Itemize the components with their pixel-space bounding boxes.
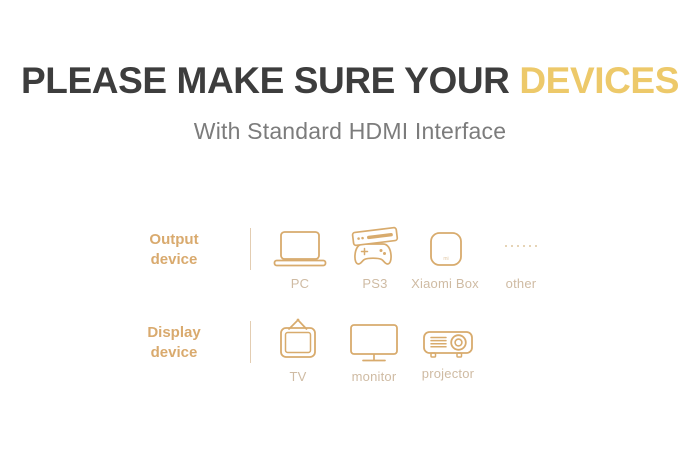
page-subtitle: With Standard HDMI Interface <box>0 118 700 146</box>
game-console-icon <box>339 220 411 272</box>
device-caption-pc: PC <box>264 276 336 291</box>
display-device-label-line2: device <box>120 343 228 363</box>
device-caption-tv: TV <box>264 369 332 384</box>
device-item-monitor[interactable]: monitor <box>334 313 414 384</box>
device-item-other[interactable]: other <box>488 220 554 291</box>
output-row-divider <box>250 228 251 270</box>
device-item-projector[interactable]: projector <box>408 313 488 381</box>
display-device-row: Display device TV <box>0 313 700 408</box>
device-caption-projector: projector <box>408 366 488 381</box>
monitor-icon <box>334 313 414 365</box>
device-caption-xiaomi-box: Xiaomi Box <box>406 276 484 291</box>
page-title-accent: DEVICES <box>519 60 679 101</box>
page-title: PLEASE MAKE SURE YOUR DEVICES <box>0 62 700 99</box>
ellipsis-dots-icon <box>488 220 554 272</box>
device-caption-other: other <box>488 276 554 291</box>
projector-icon <box>408 313 488 365</box>
page-title-main: PLEASE MAKE SURE YOUR <box>21 60 519 101</box>
display-device-label: Display device <box>120 323 228 364</box>
output-device-row: Output device PC <box>0 220 700 315</box>
display-device-label-line1: Display <box>147 324 200 341</box>
device-item-ps3[interactable]: PS3 <box>339 220 411 291</box>
set-top-box-icon: mi <box>406 220 484 272</box>
device-item-xiaomi-box[interactable]: mi Xiaomi Box <box>406 220 484 291</box>
output-device-label-line2: device <box>120 250 228 270</box>
laptop-icon <box>264 220 336 272</box>
output-device-label: Output device <box>120 230 228 271</box>
device-caption-ps3: PS3 <box>339 276 411 291</box>
xiaomi-box-inner-label: mi <box>443 256 448 262</box>
display-row-divider <box>250 321 251 363</box>
device-rows: Output device PC <box>0 220 700 408</box>
device-caption-monitor: monitor <box>334 369 414 384</box>
output-device-label-line1: Output <box>149 231 198 248</box>
device-item-pc[interactable]: PC <box>264 220 336 291</box>
device-item-tv[interactable]: TV <box>264 313 332 384</box>
retro-tv-icon <box>264 313 332 365</box>
